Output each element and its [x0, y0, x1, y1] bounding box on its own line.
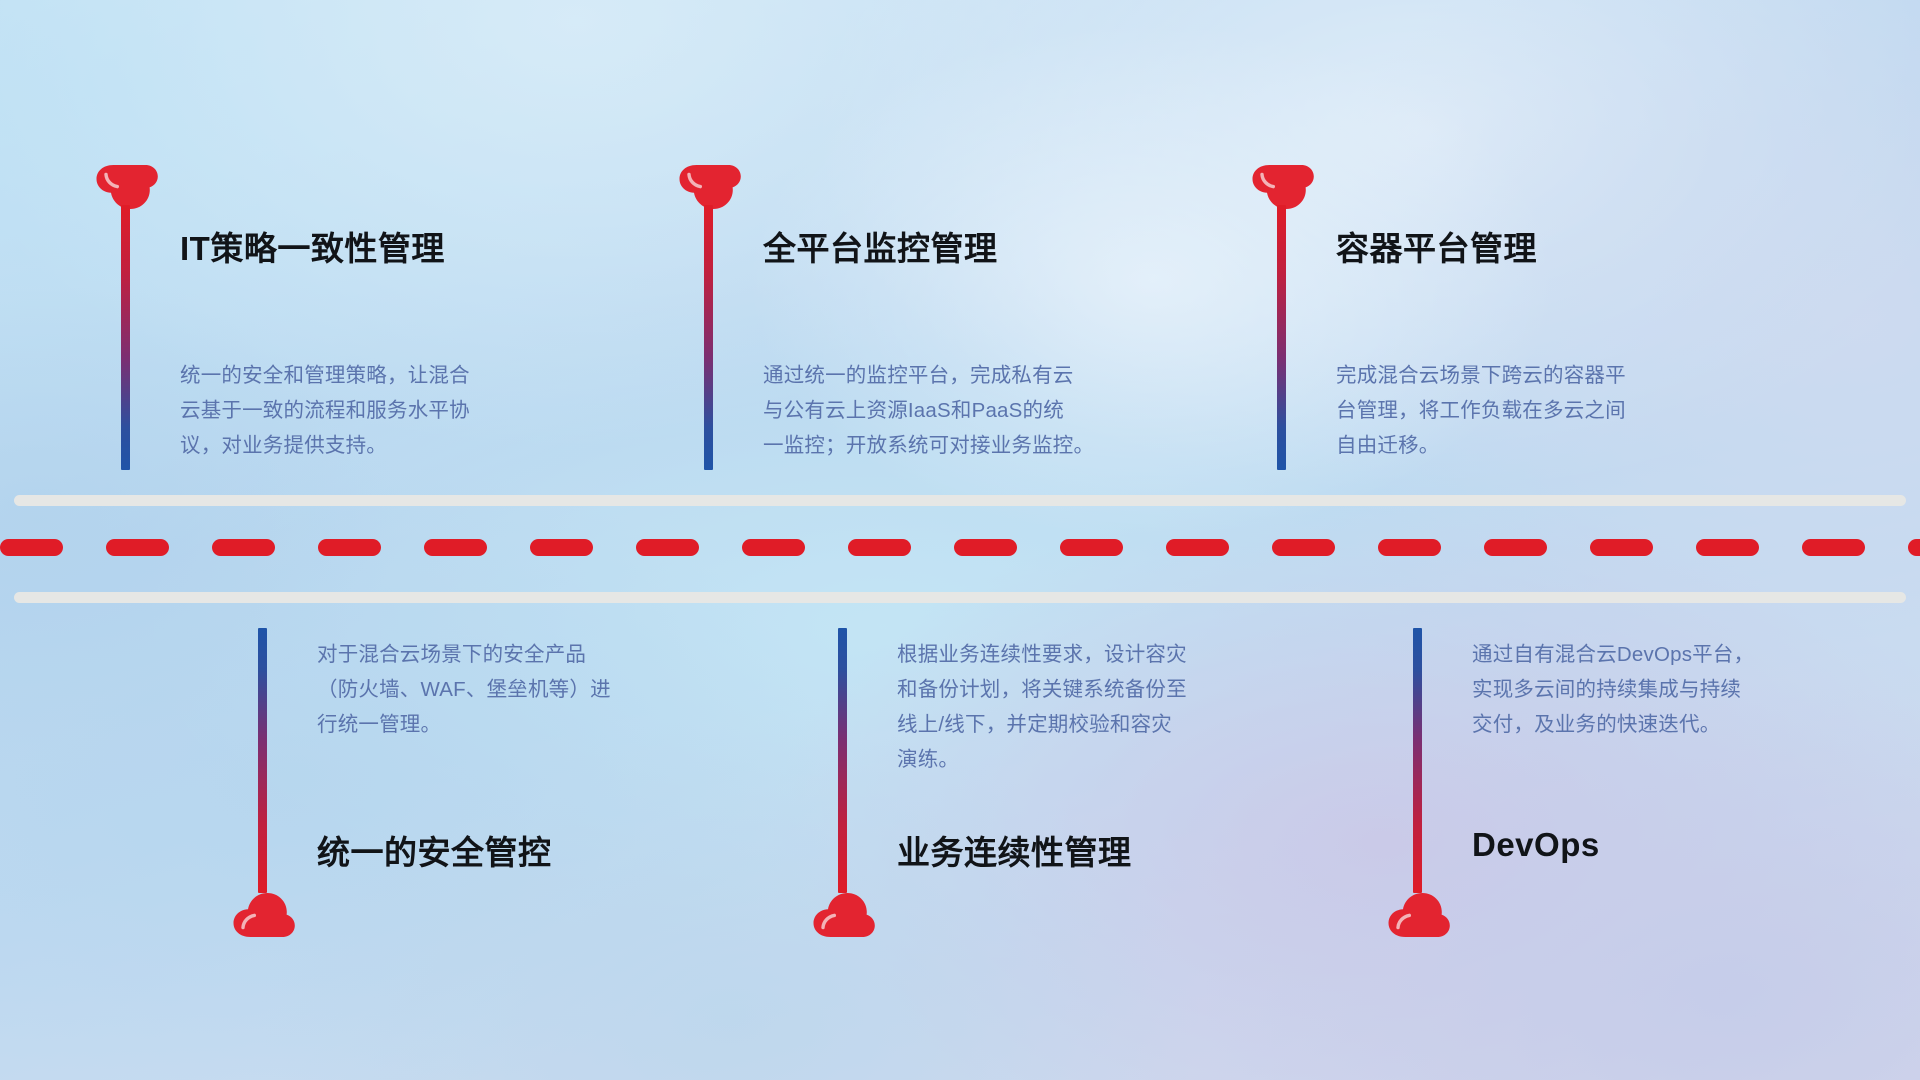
- road-dash-segment: [424, 539, 487, 556]
- top-heading-2: 全平台监控管理: [763, 222, 998, 270]
- connector-stem: [1277, 205, 1286, 470]
- top-body-1: 统一的安全和管理策略，让混合 云基于一致的流程和服务水平协 议，对业务提供支持。: [180, 358, 620, 463]
- connector-stem: [704, 205, 713, 470]
- cloud-icon: [810, 890, 878, 940]
- connector-stem: [121, 205, 130, 470]
- road-dash-segment: [1272, 539, 1335, 556]
- road-dash-segment: [0, 539, 63, 556]
- bottom-heading-1: 统一的安全管控: [317, 826, 552, 874]
- road-dash-segment: [848, 539, 911, 556]
- road-divider: [0, 480, 1920, 610]
- bottom-body-1: 对于混合云场景下的安全产品 （防火墙、WAF、堡垒机等）进 行统一管理。: [317, 637, 747, 742]
- road-dash-segment: [530, 539, 593, 556]
- connector-stem: [1413, 628, 1422, 893]
- road-dash-segment: [318, 539, 381, 556]
- road-dash-segment: [1696, 539, 1759, 556]
- top-body-3: 完成混合云场景下跨云的容器平 台管理，将工作负载在多云之间 自由迁移。: [1336, 358, 1796, 463]
- road-dash-segment: [212, 539, 275, 556]
- road-dash-segment: [1484, 539, 1547, 556]
- road-dash-segment: [1378, 539, 1441, 556]
- road-edge-top: [14, 495, 1906, 506]
- road-dash-segment: [1908, 539, 1920, 556]
- top-heading-3: 容器平台管理: [1336, 222, 1537, 270]
- road-dash-segment: [742, 539, 805, 556]
- bottom-heading-3: DevOps: [1472, 826, 1600, 864]
- road-dash-segment: [1590, 539, 1653, 556]
- road-dash-segment: [1166, 539, 1229, 556]
- bottom-body-3: 通过自有混合云DevOps平台， 实现多云间的持续集成与持续 交付，及业务的快速…: [1472, 637, 1902, 742]
- road-dash-segment: [1802, 539, 1865, 556]
- road-edge-bottom: [14, 592, 1906, 603]
- road-dash-segment: [106, 539, 169, 556]
- cloud-icon: [1385, 890, 1453, 940]
- top-body-2: 通过统一的监控平台，完成私有云 与公有云上资源IaaS和PaaS的统 一监控；开…: [763, 358, 1233, 463]
- connector-stem: [838, 628, 847, 893]
- connector-stem: [258, 628, 267, 893]
- bottom-heading-2: 业务连续性管理: [897, 826, 1132, 874]
- bottom-body-2: 根据业务连续性要求，设计容灾 和备份计划，将关键系统备份至 线上/线下，并定期校…: [897, 637, 1337, 777]
- top-heading-1: IT策略一致性管理: [180, 222, 445, 270]
- road-dash-segment: [1060, 539, 1123, 556]
- road-dashed-centerline: [0, 539, 1920, 556]
- road-dash-segment: [636, 539, 699, 556]
- cloud-icon: [230, 890, 298, 940]
- road-dash-segment: [954, 539, 1017, 556]
